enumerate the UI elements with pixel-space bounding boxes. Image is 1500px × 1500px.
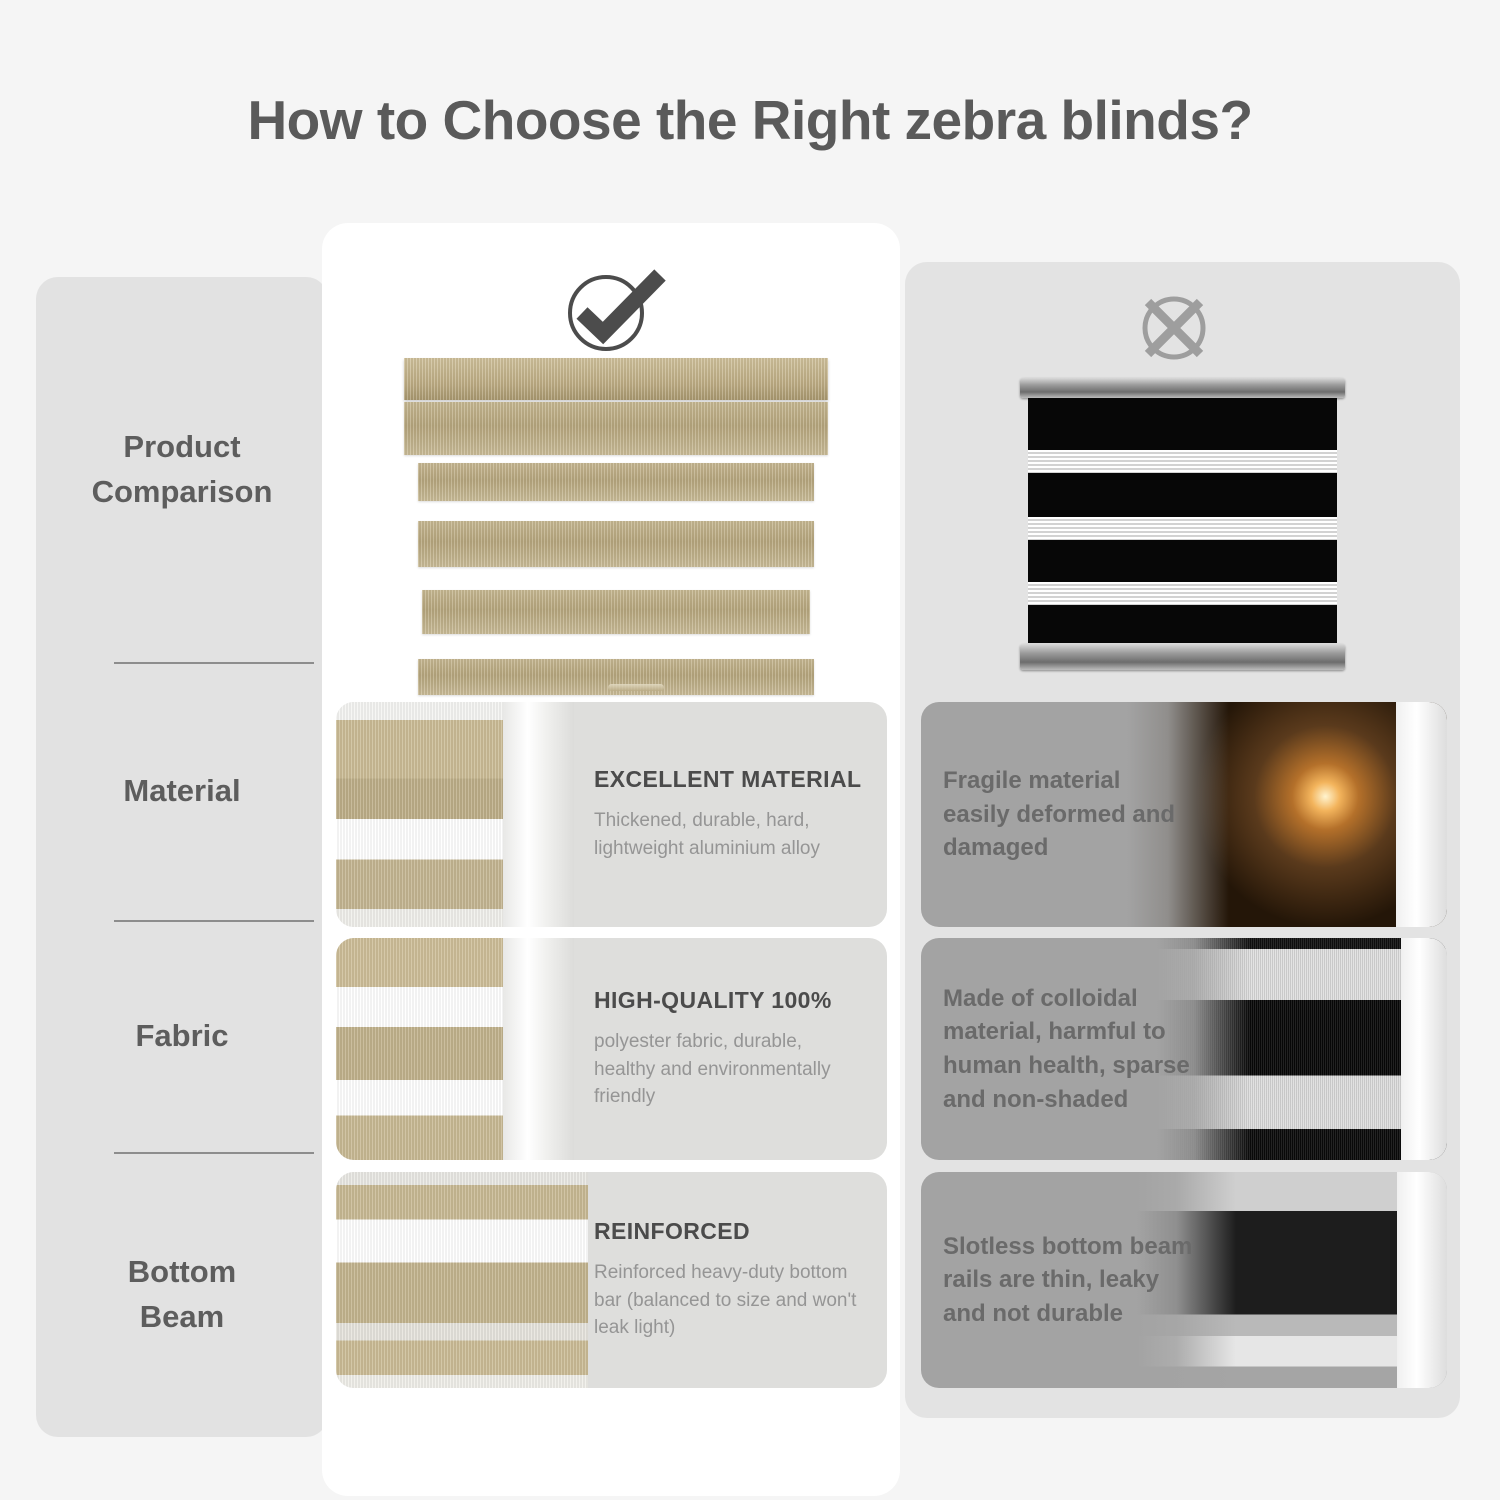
blind-slat — [404, 402, 828, 455]
window-frame-edge — [503, 938, 574, 1160]
page-title: How to Choose the Right zebra blinds? — [0, 88, 1500, 152]
bottom-rail — [1020, 644, 1345, 670]
blind-opaque-stripe — [1028, 473, 1337, 517]
wood-grain-texture — [336, 1172, 588, 1388]
bad-panel-material: Fragile material easily deformed and dam… — [921, 702, 1447, 927]
good-panel-material: EXCELLENT MATERIAL Thickened, durable, h… — [336, 702, 887, 927]
sidebar-item-label: Material — [123, 769, 240, 813]
sidebar-item-fabric: Fabric — [36, 920, 328, 1152]
x-circle-icon — [1134, 288, 1214, 368]
panel-text: Slotless bottom beam rails are thin, lea… — [943, 1230, 1193, 1331]
panel-body: Thickened, durable, hard, lightweight al… — [594, 807, 863, 862]
panel-text-block: Fragile material easily deformed and dam… — [943, 702, 1193, 927]
window-frame-edge — [1401, 938, 1447, 1160]
headrail — [1020, 378, 1345, 398]
sidebar-item-label: Bottom Beam — [128, 1250, 236, 1338]
good-panel-bottom-beam: REINFORCED Reinforced heavy-duty bottom … — [336, 1172, 887, 1388]
panel-photo — [336, 938, 574, 1160]
check-circle-icon — [556, 263, 668, 355]
blind-sheer-stripe — [1028, 582, 1337, 605]
panel-title: EXCELLENT MATERIAL — [594, 766, 863, 793]
window-frame-edge — [1397, 1172, 1447, 1388]
blind-slat — [418, 463, 814, 501]
bottom-bar — [418, 659, 814, 695]
panel-text: Fragile material easily deformed and dam… — [943, 764, 1193, 865]
panel-text: Made of colloidal material, harmful to h… — [943, 982, 1213, 1116]
window-frame-edge — [1396, 702, 1447, 927]
panel-title: REINFORCED — [594, 1218, 863, 1245]
blind-sheer-stripe — [1028, 517, 1337, 540]
sidebar-item-label: Product Comparison — [92, 425, 273, 513]
sidebar-item-label: Fabric — [135, 1014, 228, 1058]
hero-image-good-blind — [404, 358, 828, 695]
panel-text-block: REINFORCED Reinforced heavy-duty bottom … — [594, 1172, 863, 1388]
blind-slat — [422, 590, 810, 634]
blind-opaque-stripe — [1028, 398, 1337, 450]
good-panel-fabric: HIGH-QUALITY 100% polyester fabric, dura… — [336, 938, 887, 1160]
blind-opaque-stripe — [1028, 605, 1337, 643]
sidebar-categories: Product Comparison Material Fabric Botto… — [36, 277, 328, 1437]
blind-sheer-stripe — [1028, 450, 1337, 473]
panel-body: Reinforced heavy-duty bottom bar (balanc… — [594, 1259, 863, 1342]
sidebar-item-product-comparison: Product Comparison — [36, 277, 328, 662]
panel-title: HIGH-QUALITY 100% — [594, 987, 863, 1014]
bad-panel-bottom-beam: Slotless bottom beam rails are thin, lea… — [921, 1172, 1447, 1388]
panel-body: polyester fabric, durable, healthy and e… — [594, 1028, 863, 1111]
sidebar-item-bottom-beam: Bottom Beam — [36, 1152, 328, 1437]
window-frame-edge — [503, 702, 574, 927]
bad-panel-fabric: Made of colloidal material, harmful to h… — [921, 938, 1447, 1160]
panel-text-block: Slotless bottom beam rails are thin, lea… — [943, 1172, 1193, 1388]
panel-photo — [336, 702, 574, 927]
infographic-root: How to Choose the Right zebra blinds? Pr… — [0, 0, 1500, 1500]
panel-text-block: HIGH-QUALITY 100% polyester fabric, dura… — [594, 938, 863, 1160]
bottom-bar-grip — [608, 684, 664, 691]
blind-slat — [418, 521, 814, 567]
panel-photo — [336, 1172, 588, 1388]
hero-image-bad-blind — [1020, 378, 1345, 670]
blind-opaque-stripe — [1028, 540, 1337, 582]
sidebar-item-material: Material — [36, 662, 328, 920]
panel-text-block: Made of colloidal material, harmful to h… — [943, 938, 1213, 1160]
panel-text-block: EXCELLENT MATERIAL Thickened, durable, h… — [594, 702, 863, 927]
headrail — [404, 358, 828, 400]
